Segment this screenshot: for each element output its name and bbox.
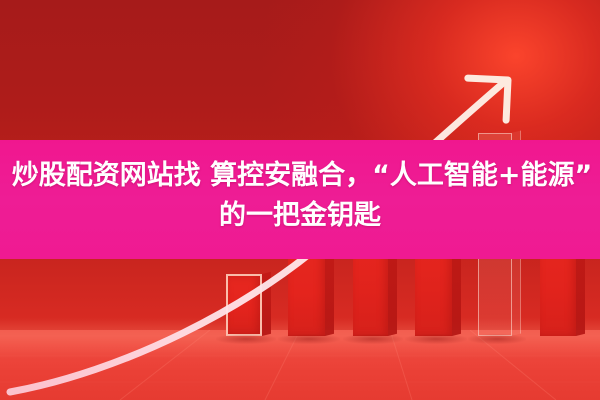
bar-1-side	[262, 272, 271, 336]
bar-4-shadow	[405, 334, 467, 344]
bar-1-shadow	[216, 334, 276, 344]
headline-line-2: 的一把金钥匙	[0, 196, 600, 236]
bar-1	[226, 274, 262, 336]
headline: 炒股配资网站找 算控安融合，“人工智能+能源” 的一把金钥匙	[0, 156, 600, 236]
bar-3-shadow	[343, 334, 403, 344]
bar-1-face	[226, 274, 262, 336]
headline-line-1: 炒股配资网站找 算控安融合，“人工智能+能源”	[0, 156, 600, 196]
bar-2-shadow	[278, 334, 340, 344]
bar-5-shadow	[468, 334, 526, 344]
promo-banner: 炒股配资网站找 算控安融合，“人工智能+能源” 的一把金钥匙	[0, 0, 600, 400]
